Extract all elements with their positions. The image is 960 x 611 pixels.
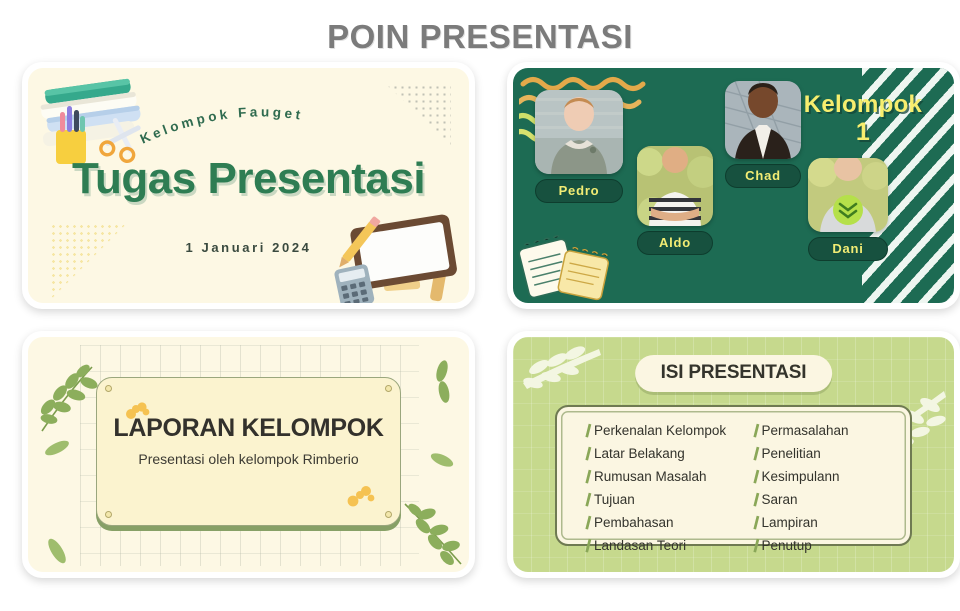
contents-column-left: ❙Perkenalan Kelompok ❙Latar Belakang ❙Ru… xyxy=(583,423,733,534)
flower-icon xyxy=(123,400,151,424)
dotted-triangle-yellow-icon xyxy=(50,223,128,301)
slide-contents-canvas: ISI PRESENTASI ❙Perkenalan Kelompok ❙Lat… xyxy=(513,337,954,572)
member-card-dani[interactable]: Dani xyxy=(808,158,888,261)
slide-cover-eyebrow: Kelompok Fauget xyxy=(28,88,469,158)
leaf-branch-icon xyxy=(36,361,98,437)
list-item-label: Landasan Teori xyxy=(594,538,686,554)
list-item-label: Lampiran xyxy=(762,515,818,531)
member-photo-dani xyxy=(808,158,888,232)
list-item-label: Tujuan xyxy=(594,492,635,508)
screw-icon xyxy=(385,385,392,392)
list-item[interactable]: ❙Kesimpulann xyxy=(751,469,901,485)
member-name-aldo: Aldo xyxy=(637,231,713,255)
list-item[interactable]: ❙Tujuan xyxy=(583,492,733,508)
screw-icon xyxy=(105,511,112,518)
list-item[interactable]: ❙Saran xyxy=(751,492,901,508)
list-item[interactable]: ❙Lampiran xyxy=(751,515,901,531)
list-item-label: Kesimpulann xyxy=(762,469,840,485)
slide-members-canvas: Kelompok 1 xyxy=(513,68,954,303)
list-item[interactable]: ❙Perkenalan Kelompok xyxy=(583,423,733,439)
leaf-icon xyxy=(40,534,74,568)
slide-report-canvas: LAPORAN KELOMPOK Presentasi oleh kelompo… xyxy=(28,337,469,572)
flower-icon xyxy=(344,483,376,509)
member-card-chad[interactable]: Chad xyxy=(725,81,801,188)
member-photo-aldo xyxy=(637,146,713,226)
page-title: POIN PRESENTASI xyxy=(0,0,960,62)
list-item[interactable]: ❙Permasalahan xyxy=(751,423,901,439)
member-name-dani: Dani xyxy=(808,237,888,261)
list-item-label: Penutup xyxy=(762,538,812,554)
list-item-label: Permasalahan xyxy=(762,423,849,439)
svg-text:Kelompok Fauget: Kelompok Fauget xyxy=(138,104,305,146)
member-card-pedro[interactable]: Pedro xyxy=(535,90,623,203)
slide-cover-canvas: Kelompok Fauget Tugas Presentasi 1 Janua… xyxy=(28,68,469,303)
list-item-label: Pembahasan xyxy=(594,515,674,531)
slide-thumbnail-cover[interactable]: Kelompok Fauget Tugas Presentasi 1 Janua… xyxy=(22,62,475,309)
list-item-label: Perkenalan Kelompok xyxy=(594,423,726,439)
contents-badge: ISI PRESENTASI xyxy=(635,355,833,392)
eyebrow-text: Kelompok Fauget xyxy=(138,104,305,146)
contents-column-right: ❙Permasalahan ❙Penelitian ❙Kesimpulann ❙… xyxy=(733,423,901,534)
member-photo-pedro xyxy=(535,90,623,174)
list-item-label: Penelitian xyxy=(762,446,821,462)
list-item[interactable]: ❙Penelitian xyxy=(751,446,901,462)
leaf-icon xyxy=(425,359,459,405)
list-item-label: Saran xyxy=(762,492,798,508)
list-item[interactable]: ❙Rumusan Masalah xyxy=(583,469,733,485)
wheat-branch-icon xyxy=(519,343,605,401)
leaf-icon xyxy=(427,445,457,475)
group-number-text: 1 xyxy=(788,119,938,145)
member-name-pedro: Pedro xyxy=(535,179,623,203)
contents-panel: ❙Perkenalan Kelompok ❙Latar Belakang ❙Ru… xyxy=(555,405,912,546)
report-card: LAPORAN KELOMPOK Presentasi oleh kelompo… xyxy=(96,377,401,526)
slide-cover-title: Tugas Presentasi xyxy=(28,154,469,204)
screw-icon xyxy=(385,511,392,518)
screw-icon xyxy=(105,385,112,392)
slide-deck: Kelompok Fauget Tugas Presentasi 1 Janua… xyxy=(0,62,960,578)
list-item[interactable]: ❙Landasan Teori xyxy=(583,538,733,554)
slide-members-group-label: Kelompok 1 xyxy=(788,92,938,145)
list-item[interactable]: ❙Latar Belakang xyxy=(583,446,733,462)
list-item[interactable]: ❙Penutup xyxy=(751,538,901,554)
slide-thumbnail-report[interactable]: LAPORAN KELOMPOK Presentasi oleh kelompo… xyxy=(22,331,475,578)
list-item-label: Rumusan Masalah xyxy=(594,469,707,485)
list-item-label: Latar Belakang xyxy=(594,446,685,462)
whiteboard-easel-icon xyxy=(332,209,467,303)
leaf-icon xyxy=(42,433,72,463)
report-subtitle: Presentasi oleh kelompok Rimberio xyxy=(97,451,400,467)
notepad-icon xyxy=(517,229,617,301)
member-card-aldo[interactable]: Aldo xyxy=(637,146,713,255)
list-item[interactable]: ❙Pembahasan xyxy=(583,515,733,531)
slide-thumbnail-contents[interactable]: ISI PRESENTASI ❙Perkenalan Kelompok ❙Lat… xyxy=(507,331,960,578)
member-photo-chad xyxy=(725,81,801,159)
group-label-text: Kelompok xyxy=(804,91,922,118)
slide-thumbnail-members[interactable]: Kelompok 1 xyxy=(507,62,960,309)
leaf-branch-icon xyxy=(401,498,467,570)
member-name-chad: Chad xyxy=(725,164,801,188)
